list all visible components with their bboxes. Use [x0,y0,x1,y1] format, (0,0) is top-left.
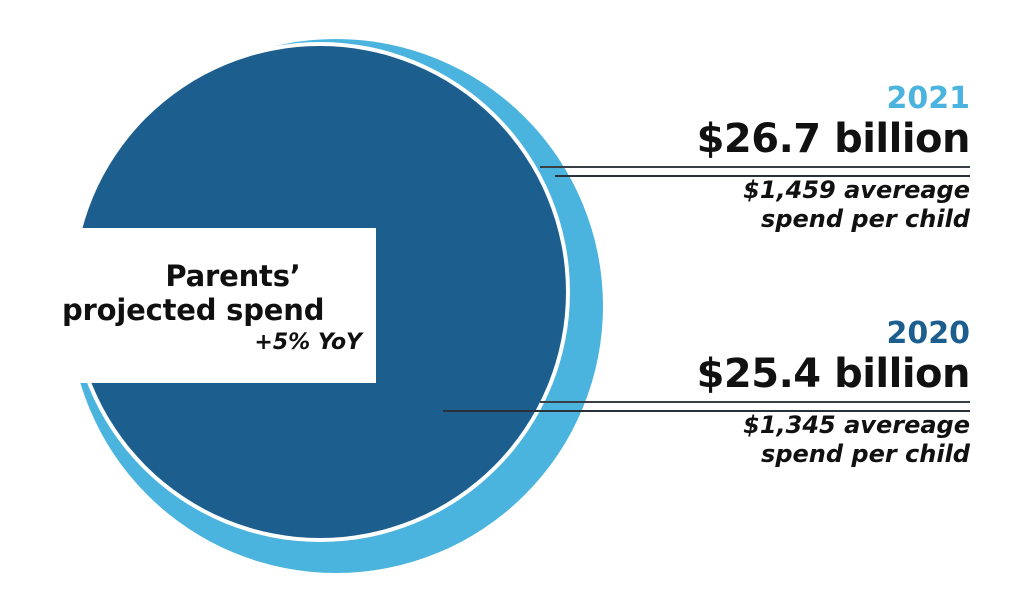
center-label-line1: Parents’ [165,260,300,294]
center-label-line2: projected spend [62,294,324,328]
callout-note-line1-2020: $1,345 avereage [540,411,970,440]
callout-note-line2-2020: spend per child [540,440,970,469]
callout-amount-value-2021: $26.7 [697,116,821,162]
callout-amount-value-2020: $25.4 [697,351,821,397]
callout-rule-2020 [540,401,970,403]
center-label-block: Parents’ projected spend +5% YoY [52,228,376,383]
center-label-growth: +5% YoY [254,331,362,355]
callout-2020: 2020 $25.4 billion $1,345 avereage spend… [540,319,970,470]
callout-amount-2021: $26.7 billion [540,118,970,161]
callout-note-2020: $1,345 avereage spend per child [540,411,970,470]
spend-infographic: Parents’ projected spend +5% YoY 2021 $2… [0,0,1024,590]
callout-amount-unit-2020: billion [834,351,970,397]
callout-amount-unit-2021: billion [834,116,970,162]
callout-rule-2021 [540,166,970,168]
callout-year-2021: 2021 [540,84,970,114]
callout-note-line1-2021: $1,459 avereage [540,176,970,205]
callout-2021: 2021 $26.7 billion $1,459 avereage spend… [540,84,970,235]
callout-year-2020: 2020 [540,319,970,349]
callout-note-line2-2021: spend per child [540,205,970,234]
callout-note-2021: $1,459 avereage spend per child [540,176,970,235]
callout-amount-2020: $25.4 billion [540,353,970,396]
